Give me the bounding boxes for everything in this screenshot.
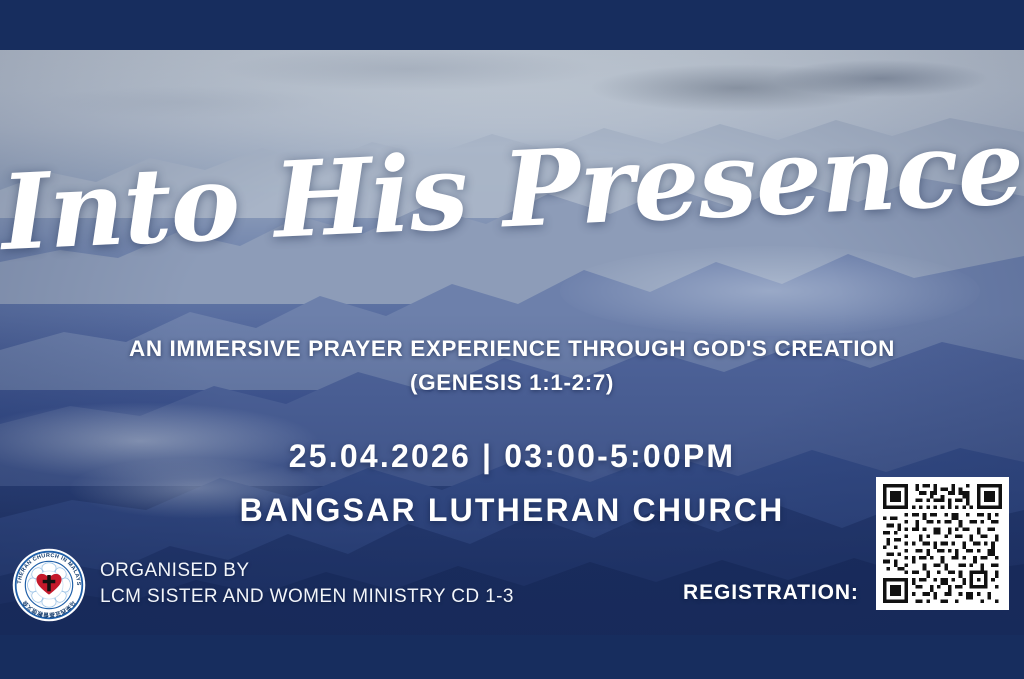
event-datetime: 25.04.2026 | 03:00-5:00PM <box>0 438 1024 475</box>
lutheran-rose-logo-icon: LUTHERAN CHURCH IN MALAYSIA 马来西亚基督教信义会 <box>12 548 86 622</box>
bottom-navy-band <box>0 635 1024 679</box>
organiser-block: LUTHERAN CHURCH IN MALAYSIA 马来西亚基督教信义会 O… <box>12 548 514 622</box>
poster-content: Into His Presence AN IMMERSIVE PRAYER EX… <box>0 0 1024 679</box>
poster-title: Into His Presence <box>0 115 1024 265</box>
organiser-name: LCM SISTER AND WOMEN MINISTRY CD 1-3 <box>100 586 514 608</box>
poster-subtitle: AN IMMERSIVE PRAYER EXPERIENCE THROUGH G… <box>0 336 1024 362</box>
top-navy-band <box>0 0 1024 50</box>
registration-label: REGISTRATION: <box>683 581 859 605</box>
event-venue: BANGSAR LUTHERAN CHURCH <box>0 492 1024 529</box>
scripture-reference: (GENESIS 1:1-2:7) <box>0 370 1024 396</box>
qr-code-icon <box>883 484 1002 603</box>
event-poster: Into His Presence AN IMMERSIVE PRAYER EX… <box>0 0 1024 679</box>
organiser-text: ORGANISED BY LCM SISTER AND WOMEN MINIST… <box>100 560 514 610</box>
organised-by-label: ORGANISED BY <box>100 560 514 582</box>
registration-qr-code[interactable] <box>876 477 1009 610</box>
